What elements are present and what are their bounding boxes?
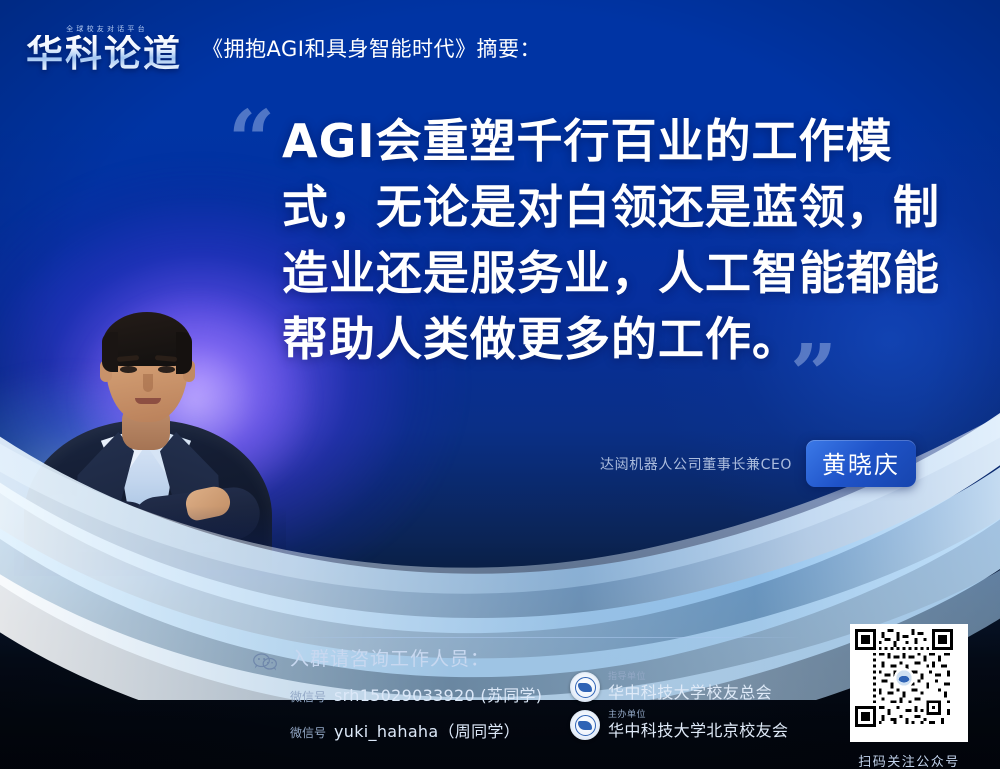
contact-row: 微信号 yuki_hahaha（周同学） [290, 718, 520, 742]
speaker-name-badge: 黄晓庆 [806, 440, 916, 487]
quote-line: 式，无论是对白领还是蓝领，制 [282, 174, 942, 240]
footer-divider [288, 637, 800, 638]
speaker-role: 达闼机器人公司董事长兼CEO [600, 454, 792, 474]
contact-value[interactable]: yuki_hahaha（周同学） [334, 718, 520, 742]
organization-name: 华中科技大学北京校友会 [608, 723, 788, 739]
qr-caption: 扫码关注公众号 [858, 751, 960, 769]
qr-code[interactable] [850, 624, 968, 742]
quote-block: “ AGI会重塑千行百业的工作模 式，无论是对白领还是蓝领，制 造业还是服务业，… [282, 108, 942, 372]
brand-logo[interactable]: 全球校友对话平台 华科论道 [26, 24, 182, 72]
qr-code-image [855, 629, 953, 727]
header: 全球校友对话平台 华科论道 《拥抱AGI和具身智能时代》摘要： [0, 0, 1000, 96]
quote-line: 帮助人类做更多的工作。 [282, 306, 942, 372]
footer-heading: 入群请咨询工作人员： [290, 644, 490, 671]
logo-wordmark: 华科论道 [26, 35, 182, 72]
contact-row: 微信号 srh15029033920 (苏同学) [290, 682, 542, 706]
organization-item: 指导单位 华中科技大学校友总会 [570, 672, 772, 702]
wechat-icon [252, 652, 278, 672]
organization-name: 华中科技大学校友总会 [608, 685, 772, 701]
university-seal-icon [570, 672, 600, 702]
header-title: 《拥抱AGI和具身智能时代》摘要： [202, 33, 541, 63]
contact-value[interactable]: srh15029033920 (苏同学) [334, 682, 542, 706]
qr-block: 扫码关注公众号 [834, 624, 984, 769]
organization-item: 主办单位 华中科技大学北京校友会 [570, 710, 788, 740]
quote-line: AGI会重塑千行百业的工作模 [282, 108, 942, 174]
organization-kind: 主办单位 [608, 711, 788, 720]
quote-line: 造业还是服务业，人工智能都能 [282, 240, 942, 306]
quote-open-mark: “ [228, 100, 275, 182]
poster-root: 全球校友对话平台 华科论道 《拥抱AGI和具身智能时代》摘要： “ AGI会重塑… [0, 0, 1000, 769]
organization-kind: 指导单位 [608, 673, 772, 682]
university-seal-icon [570, 710, 600, 740]
quote-close-mark: ” [790, 334, 837, 416]
contact-label: 微信号 [290, 688, 326, 705]
contact-label: 微信号 [290, 724, 326, 741]
attribution: 达闼机器人公司董事长兼CEO 黄晓庆 [600, 440, 916, 487]
